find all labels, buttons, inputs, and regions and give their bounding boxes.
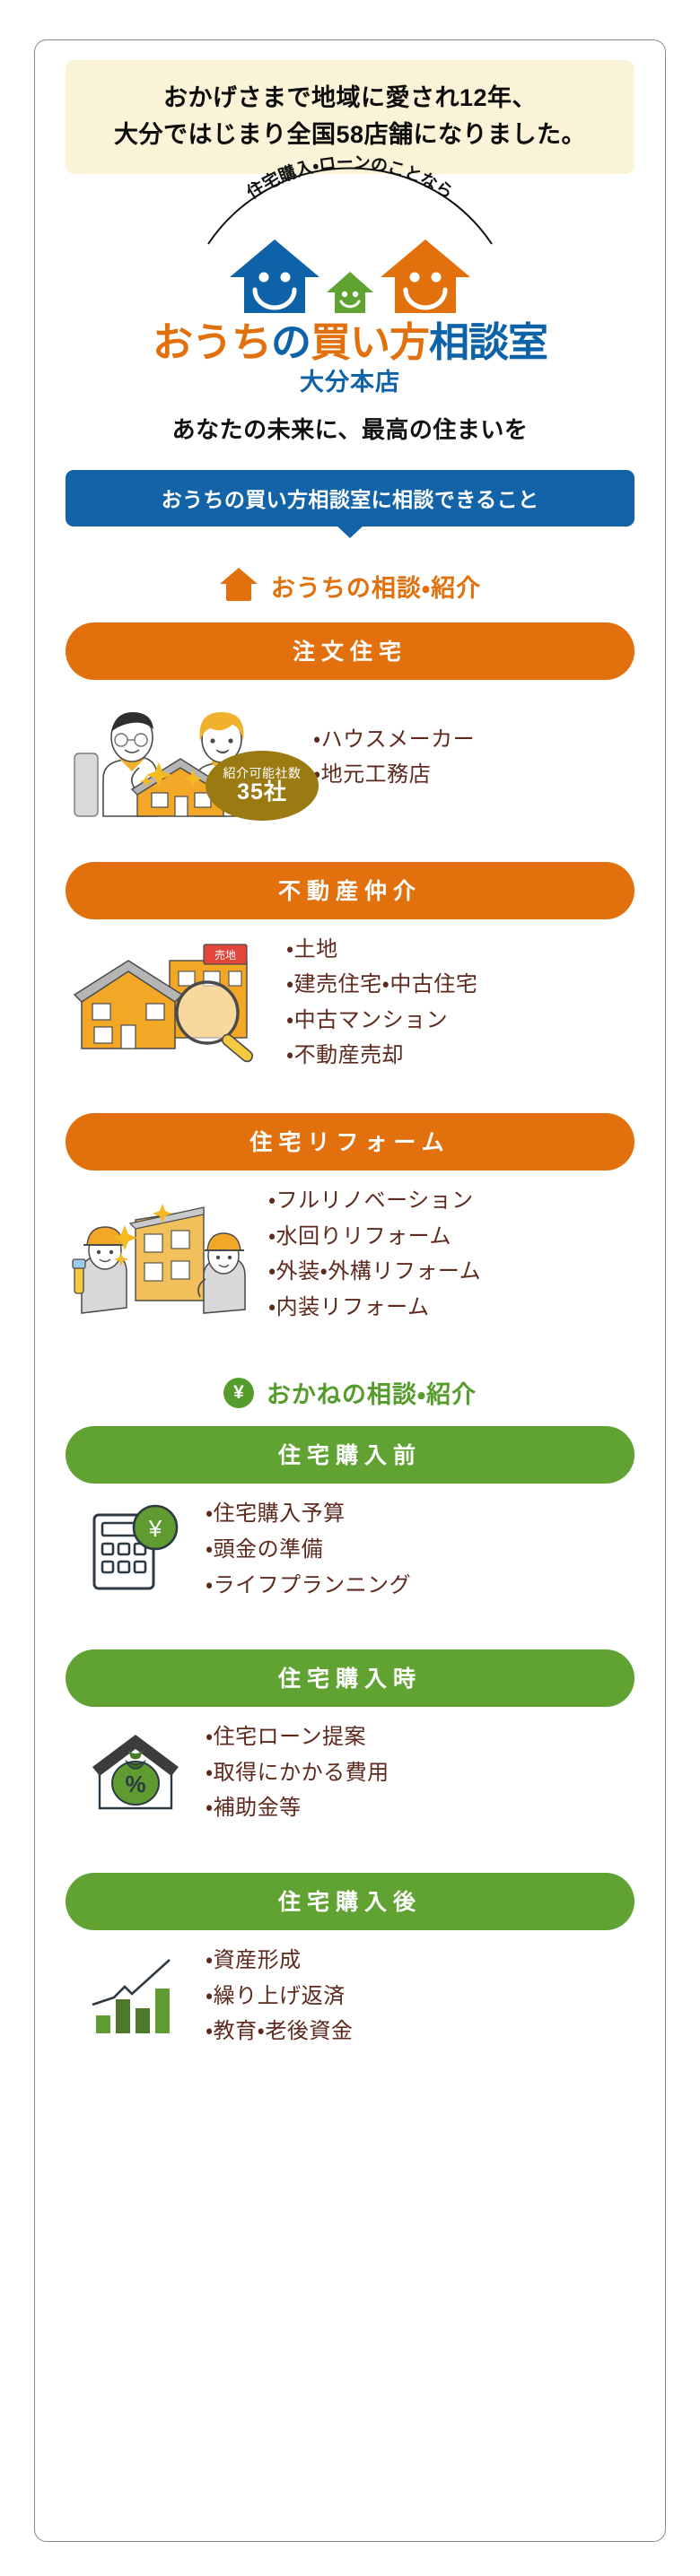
list-item: ・外装・外構リフォーム — [268, 1254, 631, 1290]
list-item: ・住宅ローン提案 — [206, 1719, 631, 1755]
renovation-worker-illustration — [69, 1189, 258, 1319]
list-item: ・土地 — [286, 932, 631, 968]
list-item: ・不動産売却 — [286, 1038, 631, 1074]
section-heading-money: ¥ おかねの相談・紹介 — [66, 1375, 634, 1410]
list-item: ・頭金の準備 — [206, 1532, 631, 1568]
section-title-money: おかねの相談・紹介 — [267, 1375, 477, 1410]
card-after-purchase: ・資産形成 ・繰り上げ返済 ・教育・老後資金 — [66, 1943, 634, 2049]
list-item: ・教育・老後資金 — [206, 2014, 631, 2049]
card-during-purchase: % ・住宅ローン提案 ・取得にかかる費用 ・補助金等 — [66, 1719, 634, 1826]
list-item: ・繰り上げ返済 — [206, 1979, 631, 2015]
list-item: ・資産形成 — [206, 1943, 631, 1979]
pill-after-purchase[interactable]: 住宅購入後 — [66, 1873, 634, 1930]
services-ribbon: おうちの買い方相談室に相談できること — [66, 470, 634, 527]
brand-logo: 住宅購入・ローンのことなら — [66, 205, 634, 397]
pill-before-purchase-label: 住宅購入前 — [278, 1443, 422, 1468]
list-item: ・住宅購入予算 — [206, 1496, 631, 1532]
list-item: ・フルリノベーション — [268, 1183, 631, 1219]
referral-count-badge: 紹介可能社数 35社 — [206, 751, 319, 821]
card-before-purchase: ¥ ・住宅購入予算 ・頭金の準備 ・ライフプランニング — [66, 1496, 634, 1603]
notice-line-2: 大分ではじまり全国58店舗になりました。 — [80, 117, 620, 153]
logo-word-3: 買い方 — [311, 319, 429, 365]
pill-home-renovation-label: 住宅リフォーム — [249, 1130, 450, 1155]
growth-bar-chart-icon — [87, 1949, 184, 2043]
svg-text:¥: ¥ — [148, 1515, 162, 1542]
pill-custom-home[interactable]: 注文住宅 — [66, 622, 634, 680]
list-item: ・中古マンション — [286, 1003, 631, 1039]
pill-real-estate-brokerage[interactable]: 不動産仲介 — [66, 862, 634, 919]
list-custom-home: ・ハウスメーカー ・地元工務店 — [313, 722, 631, 793]
list-item: ・補助金等 — [206, 1790, 631, 1826]
services-ribbon-text: おうちの買い方相談室に相談できること — [74, 483, 626, 513]
tagline: あなたの未来に、最高の住まいを — [66, 412, 634, 445]
logo-house-trio — [66, 242, 634, 319]
list-item: ・ライフプランニング — [206, 1568, 631, 1604]
list-before-purchase: ・住宅購入予算 ・頭金の準備 ・ライフプランニング — [200, 1496, 631, 1603]
section-title-house: おうちの相談・紹介 — [271, 569, 481, 604]
svg-text:%: % — [125, 1771, 145, 1797]
list-item: ・建売住宅・中古住宅 — [286, 967, 631, 1003]
referral-badge-label: 紹介可能社数 — [223, 767, 302, 780]
pill-after-purchase-label: 住宅購入後 — [278, 1890, 422, 1915]
card-home-renovation: ・フルリノベーション ・水回りリフォーム ・外装・外構リフォーム ・内装リフォー… — [66, 1183, 634, 1325]
pill-before-purchase[interactable]: 住宅購入前 — [66, 1426, 634, 1484]
card-custom-home: 紹介可能社数 35社 ・ハウスメーカー ・地元工務店 — [66, 692, 634, 822]
list-during-purchase: ・住宅ローン提案 ・取得にかかる費用 ・補助金等 — [200, 1719, 631, 1826]
services-ribbon-wrap: おうちの買い方相談室に相談できること — [66, 470, 634, 527]
pill-custom-home-label: 注文住宅 — [293, 640, 407, 665]
ribbon-notch — [337, 526, 363, 538]
house-magnifier-illustration: 売地 — [69, 937, 276, 1067]
couple-house-illustration: 紹介可能社数 35社 — [69, 692, 302, 822]
logo-arc-text: 住宅購入・ローンのことなら — [66, 205, 634, 244]
pill-during-purchase-label: 住宅購入時 — [278, 1667, 422, 1692]
yen-circle-icon: ¥ — [223, 1378, 254, 1408]
list-item: ・内装リフォーム — [268, 1290, 631, 1326]
list-item: ・取得にかかる費用 — [206, 1755, 631, 1791]
logo-word-2: の — [271, 319, 311, 365]
list-item: ・地元工務店 — [313, 757, 631, 793]
house-icon — [219, 566, 258, 606]
section-heading-house: おうちの相談・紹介 — [66, 566, 634, 606]
pill-home-renovation[interactable]: 住宅リフォーム — [66, 1113, 634, 1171]
house-blue-icon — [228, 238, 321, 319]
house-money-bag-icon: % — [87, 1724, 184, 1822]
calculator-yen-icon: ¥ — [87, 1501, 184, 1598]
house-orange-icon — [379, 238, 472, 319]
logo-branch-name: 大分本店 — [66, 362, 634, 397]
list-item: ・ハウスメーカー — [313, 722, 631, 758]
logo-wordmark: おうちの買い方相談室 — [66, 321, 634, 364]
list-item: ・水回りリフォーム — [268, 1219, 631, 1255]
card-real-estate-brokerage: 売地 ・土地 ・建売住宅・中古住宅 ・中古マンション ・不動産売却 — [66, 932, 634, 1074]
content-card: おかげさまで地域に愛され12年、 大分ではじまり全国58店舗になりました。 住宅… — [34, 39, 666, 2542]
svg-text:売地: 売地 — [214, 948, 236, 962]
notice-line-1: おかげさまで地域に愛され12年、 — [80, 80, 620, 117]
house-green-icon — [325, 270, 375, 319]
infographic-page: おかげさまで地域に愛され12年、 大分ではじまり全国58店舗になりました。 住宅… — [0, 0, 700, 2576]
list-home-renovation: ・フルリノベーション ・水回りリフォーム ・外装・外構リフォーム ・内装リフォー… — [268, 1183, 631, 1325]
list-real-estate-brokerage: ・土地 ・建売住宅・中古住宅 ・中古マンション ・不動産売却 — [286, 932, 631, 1074]
logo-word-4: 相談室 — [429, 319, 547, 365]
pill-during-purchase[interactable]: 住宅購入時 — [66, 1649, 634, 1707]
referral-badge-value: 35社 — [237, 780, 287, 804]
list-after-purchase: ・資産形成 ・繰り上げ返済 ・教育・老後資金 — [200, 1943, 631, 2049]
pill-real-estate-brokerage-label: 不動産仲介 — [278, 879, 422, 904]
logo-word-1: おうち — [153, 319, 271, 365]
